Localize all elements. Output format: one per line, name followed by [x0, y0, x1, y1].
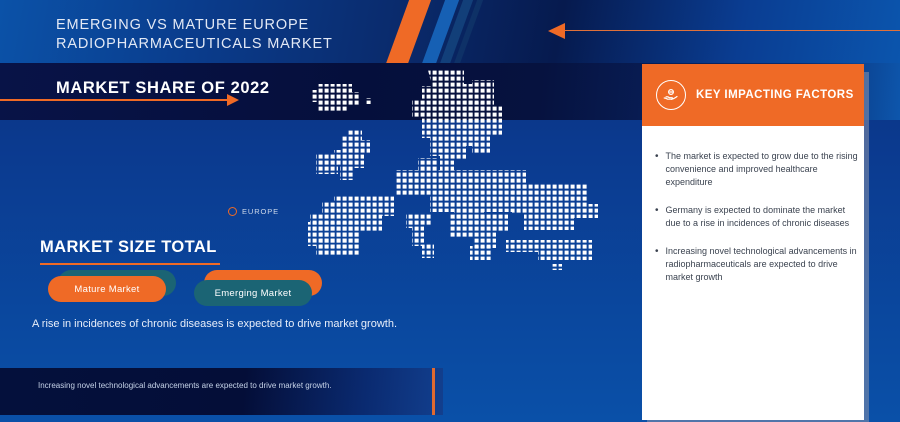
location-ring-icon [228, 207, 237, 216]
page-title: EMERGING VS MATURE EUROPERADIOPHARMACEUT… [56, 16, 476, 54]
market-size-total-title: MARKET SIZE TOTAL [40, 238, 220, 257]
bottom-strip-text: Increasing novel technological advanceme… [38, 380, 398, 392]
list-item-text: Increasing novel technological advanceme… [666, 245, 860, 284]
title-underline [40, 263, 220, 265]
infographic-canvas: EMERGING VS MATURE EUROPERADIOPHARMACEUT… [0, 0, 900, 422]
market-type-legend: Mature Market Emerging Market [48, 276, 312, 302]
list-item-text: Germany is expected to dominate the mark… [666, 204, 860, 230]
list-item: • Germany is expected to dominate the ma… [655, 204, 860, 230]
pill-mature-market-label: Mature Market [48, 276, 166, 302]
pill-emerging-market[interactable]: Emerging Market [194, 276, 312, 302]
panel-title: KEY IMPACTING FACTORS [696, 89, 854, 101]
key-factors-list: • The market is expected to grow due to … [655, 150, 860, 299]
bottom-strip-accent-bar [432, 368, 435, 415]
europe-map-marker: EUROPE [228, 207, 279, 216]
hand-holding-coin-icon [656, 80, 686, 110]
list-item-text: The market is expected to grow due to th… [666, 150, 860, 189]
europe-dotted-map [300, 58, 630, 348]
bullet-marker: • [655, 245, 659, 284]
bullet-marker: • [655, 204, 659, 230]
bullet-marker: • [655, 150, 659, 189]
panel-header: KEY IMPACTING FACTORS [642, 64, 864, 126]
market-share-title: MARKET SHARE OF 2022 [56, 79, 270, 98]
pill-emerging-market-label: Emerging Market [194, 280, 312, 306]
list-item: • Increasing novel technological advance… [655, 245, 860, 284]
list-item: • The market is expected to grow due to … [655, 150, 860, 189]
europe-label: EUROPE [242, 207, 279, 216]
pill-mature-market[interactable]: Mature Market [48, 276, 166, 302]
market-size-note: A rise in incidences of chronic diseases… [32, 316, 432, 332]
market-share-arrow-right-icon [0, 99, 228, 101]
header-arrow-left-icon [565, 30, 900, 31]
market-size-total-section: MARKET SIZE TOTAL [40, 238, 220, 265]
